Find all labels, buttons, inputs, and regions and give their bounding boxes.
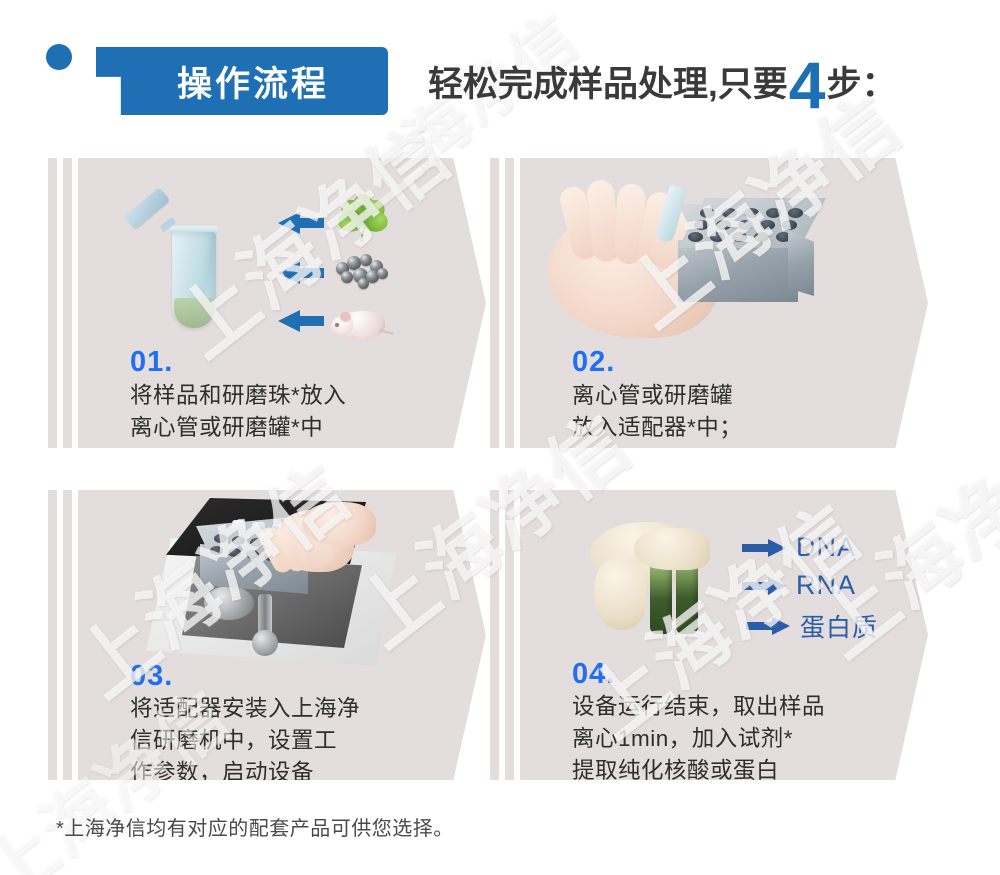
arrow-right-icon-rna (742, 577, 786, 595)
output-legend: DNA RNA 蛋白质 (742, 532, 902, 642)
centrifuge-tube-icon (130, 188, 250, 348)
card-stripe-outer (48, 158, 57, 448)
legend-label-protein: 蛋白质 (800, 608, 878, 644)
card-body: 03. 将适配器安装入上海净 信研磨机中，设置工 作参数，启动设备 (78, 490, 486, 780)
arrow-right-icon-protein (746, 617, 790, 635)
arrow-right-icon-dna (742, 539, 786, 557)
header-dot-decoration (46, 44, 72, 70)
page-title-number: 4 (789, 59, 826, 112)
grinding-beads-icon (334, 252, 390, 286)
step-text-04: 设备运行结束，取出样品 离心1min，加入试剂* 提取纯化核酸或蛋白 (572, 691, 825, 780)
legend-label-rna: RNA (796, 570, 856, 601)
step-card-03: 03. 将适配器安装入上海净 信研磨机中，设置工 作参数，启动设备 (48, 490, 486, 780)
step-text-02: 离心管或研磨罐 放入适配器*中； (572, 380, 742, 444)
card-stripe-inner (63, 158, 72, 448)
leaf-icon (336, 196, 390, 242)
step-card-04: DNA RNA 蛋白质 04. 设备运行结束，取出样品 离心1min，加入试剂*… (490, 490, 928, 780)
step-text-03: 将适配器安装入上海净 信研磨机中，设置工 作参数，启动设备 (130, 693, 360, 780)
page-header: 操作流程 轻松完成样品处理,只要4步： (0, 0, 1000, 140)
legend-row-protein: 蛋白质 (746, 608, 878, 644)
card-body: 01. 将样品和研磨珠*放入 离心管或研磨罐*中 (78, 158, 486, 448)
step-card-01: 01. 将样品和研磨珠*放入 离心管或研磨罐*中 (48, 158, 486, 448)
card-stripe-inner (505, 490, 514, 780)
card-body: 02. 离心管或研磨罐 放入适配器*中； (520, 158, 928, 448)
step-number-03: 03. (130, 660, 173, 693)
card-stripe-outer (490, 158, 499, 448)
header-badge-label: 操作流程 (96, 47, 388, 115)
card-stripe-inner (63, 490, 72, 780)
legend-row-rna: RNA (742, 570, 856, 601)
card-stripe-outer (490, 490, 499, 780)
card-stripe-inner (505, 158, 514, 448)
arrow-left-icon-3 (278, 310, 324, 332)
mouse-icon (331, 303, 393, 343)
step-card-02: 02. 离心管或研磨罐 放入适配器*中； (490, 158, 928, 448)
step-number-04: 04. (572, 658, 615, 691)
photo-gloved-hand-vials (590, 522, 730, 642)
arrow-left-icon-2 (278, 262, 324, 284)
step-number-01: 01. (130, 346, 173, 379)
photo-installing-adapter (146, 498, 396, 666)
arrow-left-icon-1 (278, 212, 324, 234)
photo-hand-with-adapter (538, 168, 838, 348)
card-stripe-outer (48, 490, 57, 780)
card-body: DNA RNA 蛋白质 04. 设备运行结束，取出样品 离心1min，加入试剂*… (520, 490, 928, 780)
page-title: 轻松完成样品处理,只要4步： (428, 46, 896, 116)
step-text-01: 将样品和研磨珠*放入 离心管或研磨罐*中 (130, 380, 346, 444)
step-number-02: 02. (572, 346, 615, 379)
legend-row-dna: DNA (742, 532, 856, 563)
legend-label-dna: DNA (796, 532, 856, 563)
page-title-suffix: 步： (826, 56, 896, 107)
page-title-prefix: 轻松完成样品处理,只要 (428, 56, 788, 107)
footnote: *上海净信均有对应的配套产品可供您选择。 (56, 812, 454, 841)
